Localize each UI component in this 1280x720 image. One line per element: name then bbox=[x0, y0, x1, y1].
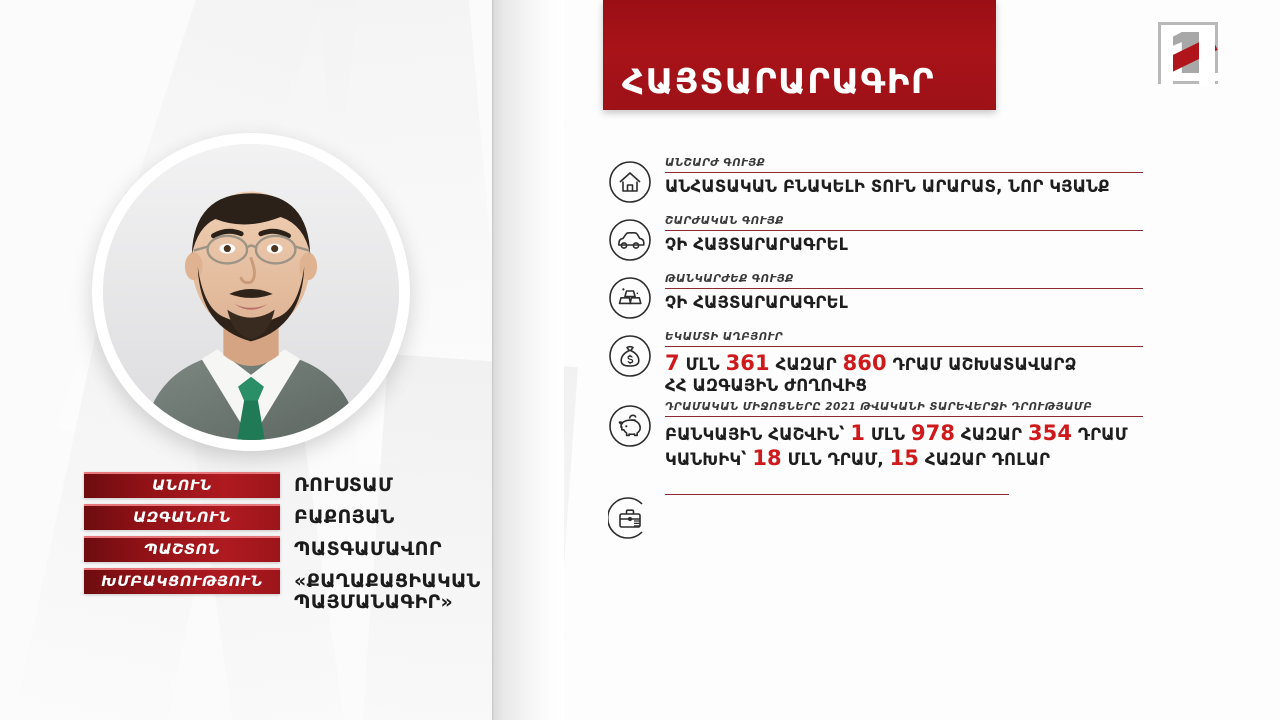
row-caption: ԹԱՆԿԱՐԺԵՔ ԳՈՒՅՔ bbox=[665, 274, 1143, 286]
row-separator bbox=[665, 494, 1009, 495]
field-value-name: ՌՈՒՍՏԱՄ bbox=[294, 472, 393, 496]
row-caption: ԵԿԱՄՏԻ ԱՂԲՅՈՒՐ bbox=[665, 332, 1143, 344]
field-label-position: ՊԱՇՏՈՆ bbox=[84, 536, 280, 562]
declaration-row-valuables: ԹԱՆԿԱՐԺԵՔ ԳՈՒՅՔ ՉԻ ՀԱՅՏԱՐԱՐԱԳՐԵԼ bbox=[603, 274, 1143, 326]
list-item: ԱԶԳԱՆՈՒՆ ԲԱՔՈՅԱՆ bbox=[84, 504, 514, 530]
declaration-row-real-estate: ԱՆՇԱՐԺ ԳՈՒՅՔ ԱՆՀԱՏԱԿԱՆ ԲՆԱԿԵԼԻ ՏՈՒՆ ԱՐԱՐ… bbox=[603, 158, 1143, 210]
declaration-list: ԱՆՇԱՐԺ ԳՈՒՅՔ ԱՆՀԱՏԱԿԱՆ ԲՆԱԿԵԼԻ ՏՈՒՆ ԱՐԱՐ… bbox=[603, 158, 1143, 552]
row-caption: ԱՆՇԱՐԺ ԳՈՒՅՔ bbox=[665, 158, 1143, 170]
row-caption: ՇԱՐԺԱԿԱՆ ԳՈՒՅՔ bbox=[665, 216, 1143, 228]
field-value-faction: «ՔԱՂԱՔԱՑԻԱԿԱՆ ՊԱՅՄԱՆԱԳԻՐ» bbox=[294, 568, 481, 612]
list-item: ՊԱՇՏՈՆ ՊԱՏԳԱՄԱՎՈՐ bbox=[84, 536, 514, 562]
briefcase-icon bbox=[608, 496, 652, 540]
gold-bars-icon bbox=[608, 276, 652, 320]
money-bag-icon bbox=[608, 334, 652, 378]
row-value: ՉԻ ՀԱՅՏԱՐԱՐԱԳՐԵԼ bbox=[665, 235, 1143, 255]
field-label-name: ԱՆՈՒՆ bbox=[84, 472, 280, 498]
list-item: ԽՄԲԱԿՑՈՒԹՅՈՒՆ «ՔԱՂԱՔԱՑԻԱԿԱՆ ՊԱՅՄԱՆԱԳԻՐ» bbox=[84, 568, 514, 612]
h1-public-tv-logo bbox=[1158, 22, 1218, 84]
row-caption: ԴՐԱՄԱԿԱՆ ՄԻՋՈՑՆԵՐԸ 2021 ԹՎԱԿԱՆԻ ՏԱՐԵՎԵՐՋ… bbox=[665, 402, 1143, 414]
row-separator bbox=[665, 230, 1143, 231]
portrait-photo bbox=[103, 144, 399, 440]
avatar bbox=[92, 133, 410, 451]
row-separator bbox=[665, 288, 1143, 289]
field-value-position: ՊԱՏԳԱՄԱՎՈՐ bbox=[294, 536, 442, 560]
row-value: ՉԻ ՀԱՅՏԱՐԱՐԱԳՐԵԼ bbox=[665, 293, 1143, 313]
person-info-plate: ԱՆՈՒՆ ՌՈՒՍՏԱՄ ԱԶԳԱՆՈՒՆ ԲԱՔՈՅԱՆ ՊԱՇՏՈՆ ՊԱ… bbox=[84, 472, 514, 618]
broadcast-graphic: ՀԱՅՏԱՐԱՐԱԳԻՐ bbox=[0, 0, 1280, 720]
row-separator bbox=[665, 416, 1143, 417]
declaration-row-income: ԵԿԱՄՏԻ ԱՂԲՅՈՒՐ 7 ՄԼՆ 361 ՀԱԶԱՐ 860 ԴՐԱՄ … bbox=[603, 332, 1143, 396]
piggy-bank-icon bbox=[608, 404, 652, 448]
page-title: ՀԱՅՏԱՐԱՐԱԳԻՐ bbox=[622, 65, 935, 99]
list-item: ԱՆՈՒՆ ՌՈՒՍՏԱՄ bbox=[84, 472, 514, 498]
car-icon bbox=[608, 218, 652, 262]
row-value: ԱՆՀԱՏԱԿԱՆ ԲՆԱԿԵԼԻ ՏՈՒՆ ԱՐԱՐԱՏ, ՆՈՐ ԿՅԱՆՔ bbox=[665, 177, 1143, 197]
field-value-surname: ԲԱՔՈՅԱՆ bbox=[294, 504, 395, 528]
row-separator bbox=[665, 346, 1143, 347]
row-value: ԲԱՆԿԱՅԻՆ ՀԱՇՎԻՆ՝ 1 ՄԼՆ 978 ՀԱԶԱՐ 354 ԴՐԱ… bbox=[665, 421, 1143, 472]
row-separator bbox=[665, 172, 1143, 173]
field-label-faction: ԽՄԲԱԿՑՈՒԹՅՈՒՆ bbox=[84, 568, 280, 594]
field-label-surname: ԱԶԳԱՆՈՒՆ bbox=[84, 504, 280, 530]
declaration-row-cash-assets: ԴՐԱՄԱԿԱՆ ՄԻՋՈՑՆԵՐԸ 2021 ԹՎԱԿԱՆԻ ՏԱՐԵՎԵՐՋ… bbox=[603, 402, 1143, 472]
declaration-row-vehicles: ՇԱՐԺԱԿԱՆ ԳՈՒՅՔ ՉԻ ՀԱՅՏԱՐԱՐԱԳՐԵԼ bbox=[603, 216, 1143, 268]
declaration-row-business bbox=[603, 494, 1143, 546]
logo-mask bbox=[1161, 73, 1221, 81]
house-icon bbox=[608, 160, 652, 204]
row-value: 7 ՄԼՆ 361 ՀԱԶԱՐ 860 ԴՐԱՄ ԱՇԽԱՏԱՎԱՐՁՀՀ ԱԶ… bbox=[665, 351, 1143, 397]
title-banner: ՀԱՅՏԱՐԱՐԱԳԻՐ bbox=[603, 0, 996, 110]
